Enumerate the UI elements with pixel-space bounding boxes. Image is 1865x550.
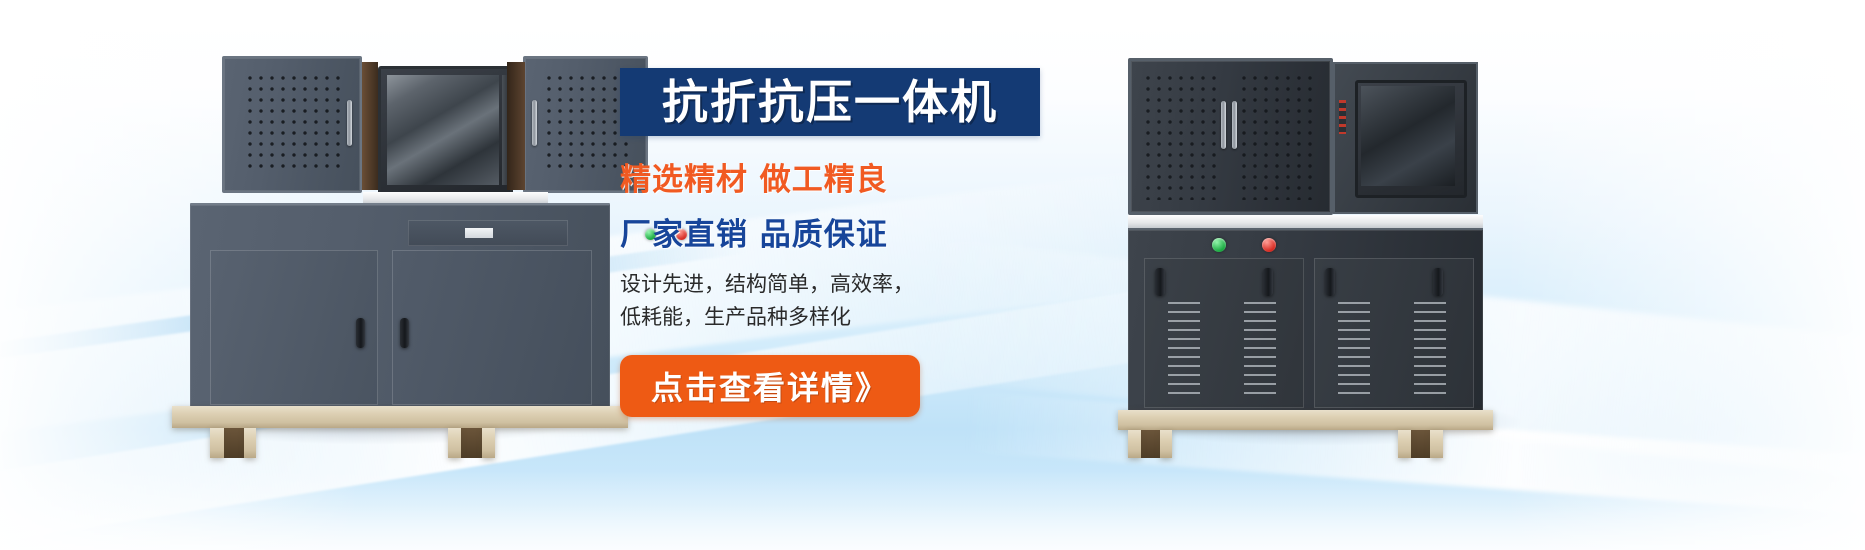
right-lower-door-1-handle-right[interactable]: [1263, 268, 1273, 296]
left-upper-left-cabinet: [222, 56, 362, 193]
right-pallet-foot-4: [1430, 430, 1443, 458]
left-upper-left-perforation: [244, 72, 342, 172]
left-upper-right-perforation: [543, 72, 631, 172]
right-pallet-foot-1: [1128, 430, 1141, 458]
right-display-status-lights: [1339, 100, 1346, 134]
right-upper-perforation-right: [1238, 72, 1318, 200]
right-pallet-leg-1: [1140, 430, 1160, 458]
left-upper-left-cabinet-side: [362, 62, 378, 190]
left-lower-door-2[interactable]: [392, 250, 592, 405]
right-wooden-pallet: [1118, 410, 1493, 430]
product-promo-banner: 抗折抗压一体机 精选精材 做工精良 厂家直销 品质保证 设计先进，结构简单，高效…: [0, 0, 1865, 550]
right-display-unit: [1333, 62, 1478, 214]
left-pallet-foot-4: [482, 428, 495, 458]
left-pallet-leg-1: [222, 428, 244, 458]
right-upper-cabinet-handle-right[interactable]: [1232, 101, 1237, 149]
right-lower-door-2-vent-left: [1338, 302, 1370, 394]
right-pallet-leg-2: [1410, 430, 1430, 458]
right-display-screen: [1361, 86, 1455, 186]
banner-subtitle-orange: 精选精材 做工精良: [620, 154, 1090, 199]
product-image-right: [1110, 40, 1530, 440]
right-pallet-foot-3: [1398, 430, 1411, 458]
left-lower-door-1[interactable]: [210, 250, 378, 405]
left-pallet-foot-2: [244, 428, 256, 458]
right-upper-cabinet-handle-left[interactable]: [1221, 101, 1226, 149]
left-lower-door-1-handle[interactable]: [356, 318, 365, 348]
right-lower-door-2-handle-right[interactable]: [1433, 268, 1443, 296]
left-upper-right-cabinet-side: [507, 62, 525, 190]
banner-description-line-1: 设计先进，结构简单，高效率，: [620, 268, 1090, 301]
left-wooden-pallet: [172, 406, 628, 428]
left-pallet-foot-3: [448, 428, 461, 458]
right-lower-door-1-vent-left: [1168, 302, 1200, 394]
left-pallet-leg-2: [460, 428, 482, 458]
view-details-button[interactable]: 点击查看详情》: [620, 355, 920, 417]
background-right-fade: [1505, 0, 1865, 550]
product-image-left: [160, 40, 590, 440]
right-lower-door-2-vent-right: [1414, 302, 1446, 394]
right-lower-door-1-vent-right: [1244, 302, 1276, 394]
banner-copy-block: 抗折抗压一体机 精选精材 做工精良 厂家直销 品质保证 设计先进，结构简单，高效…: [620, 68, 1090, 417]
right-lower-door-1-handle-left[interactable]: [1155, 268, 1165, 296]
right-green-indicator-light[interactable]: [1212, 238, 1226, 252]
right-counter-strip: [1128, 215, 1483, 228]
left-lower-door-2-handle[interactable]: [400, 318, 409, 348]
background-bottom-fade: [0, 470, 1865, 550]
left-display-unit: [378, 66, 513, 196]
left-drawer-label-plate: [465, 228, 493, 238]
banner-description-line-2: 低耗能，生产品种多样化: [620, 301, 1090, 334]
left-upper-left-handle[interactable]: [347, 100, 352, 146]
left-upper-right-handle[interactable]: [532, 100, 537, 146]
right-lower-door-2-handle-left[interactable]: [1325, 268, 1335, 296]
banner-title-bar: 抗折抗压一体机: [620, 68, 1040, 136]
left-display-screen: [387, 75, 499, 185]
banner-subtitle-blue: 厂家直销 品质保证: [620, 209, 1090, 254]
right-upper-perforation-left: [1142, 72, 1222, 200]
left-pallet-foot-1: [210, 428, 224, 458]
right-pallet-foot-2: [1160, 430, 1172, 458]
page-title: 抗折抗压一体机: [662, 79, 998, 125]
right-red-indicator-light[interactable]: [1262, 238, 1276, 252]
banner-description: 设计先进，结构简单，高效率， 低耗能，生产品种多样化: [620, 268, 1090, 333]
right-upper-cabinet: [1128, 58, 1333, 215]
